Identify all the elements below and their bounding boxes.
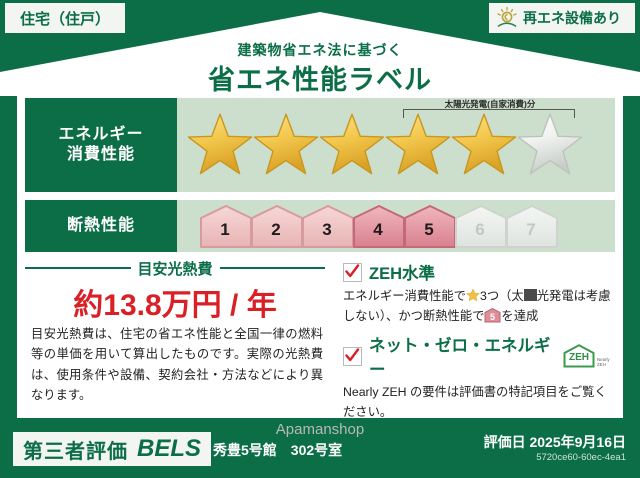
bels-certification-badge: 第三者評価 BELS <box>13 432 211 466</box>
net-zero-body: Nearly ZEH の要件は評価書の特記項目をご覧ください。 <box>343 383 615 422</box>
heading-rule-right <box>220 267 326 269</box>
checkbox-checked-icon <box>343 347 362 366</box>
evaluation-id: 5720ce60-60ec-4ea1 <box>536 452 626 463</box>
energy-label-line1: エネルギー <box>58 125 143 145</box>
zeh-standard-item: ZEH水準 エネルギー消費性能で3つ（太光発電は考慮しない）、かつ断熱性能で5を… <box>343 260 611 326</box>
insulation-level-badge-icon: 5 <box>484 308 501 322</box>
house-type-badge: 住宅（住戸） <box>5 3 125 33</box>
net-zero-title-row: ネット・ゼロ・エネルギー ZEH Nearly ZEH <box>343 332 615 380</box>
insulation-level-2: 2 <box>250 204 302 248</box>
main-panel: エネルギー 消費性能 太陽光発電(自家消費)分 断熱性能 1234567 目安光… <box>17 90 623 418</box>
insulation-level-number: 4 <box>352 220 404 240</box>
star-icon-filled <box>449 110 519 180</box>
insulation-level-number: 1 <box>199 220 251 240</box>
renewable-equipment-badge: 再エネ設備あり <box>489 3 635 33</box>
bels-energy-label: 建築物省エネ法に基づく 省エネ性能ラベル 住宅（住戸） 再エネ設備あり エネルギ… <box>0 0 640 478</box>
solar-bracket <box>403 109 575 118</box>
star-icon-filled <box>317 110 387 180</box>
page-title: 省エネ性能ラベル <box>0 58 640 97</box>
footer-bar: 第三者評価 BELS 秀豊5号館 302号室 評価日 2025年9月16日 57… <box>0 420 640 478</box>
insulation-level-7: 7 <box>505 204 557 248</box>
insulation-level-scale: 1234567 <box>199 202 556 250</box>
zeh-standard-title-row: ZEH水準 <box>343 260 611 284</box>
bels-japanese-label: 第三者評価 <box>23 435 128 464</box>
utility-cost-value: 約13.8万円 / 年 <box>25 280 325 324</box>
svg-text:ZEH: ZEH <box>597 362 606 367</box>
star-icon-filled <box>383 110 453 180</box>
net-zero-title: ネット・ゼロ・エネルギー <box>369 332 555 380</box>
star-icon <box>466 288 480 302</box>
svg-text:ZEH: ZEH <box>569 352 589 363</box>
energy-label-line2: 消費性能 <box>67 145 135 165</box>
energy-performance-label: エネルギー 消費性能 <box>25 98 177 192</box>
insulation-level-5: 5 <box>403 204 455 248</box>
insulation-performance-label: 断熱性能 <box>25 200 177 252</box>
insulation-level-number: 7 <box>505 220 557 240</box>
star-icon-filled <box>251 110 321 180</box>
insulation-level-1: 1 <box>199 204 251 248</box>
net-zero-energy-item: ネット・ゼロ・エネルギー ZEH Nearly ZEH <box>343 332 615 422</box>
utility-cost-section: 目安光熱費 約13.8万円 / 年 目安光熱費は、住宅の省エネ性能と全国一律の燃… <box>25 260 325 410</box>
insulation-level-number: 6 <box>454 220 506 240</box>
utility-cost-note: 目安光熱費は、住宅の省エネ性能と全国一律の燃料等の単価を用いて算出したものです。… <box>31 324 323 405</box>
zeh-body-text-b: 3つ（太 <box>480 289 524 303</box>
insulation-level-3: 3 <box>301 204 353 248</box>
insulation-label-text: 断熱性能 <box>67 216 135 236</box>
zeh-section: ZEH水準 エネルギー消費性能で3つ（太光発電は考慮しない）、かつ断熱性能で5を… <box>325 260 615 410</box>
zeh-body-text-d: を達成 <box>501 309 538 323</box>
zeh-body-text-a: エネルギー消費性能で <box>343 289 466 303</box>
sun-icon <box>495 6 519 30</box>
zeh-logo-icon: ZEH Nearly ZEH <box>562 343 615 369</box>
property-room-name: 秀豊5号館 302号室 <box>213 440 342 460</box>
star-icon-filled <box>185 110 255 180</box>
zeh-standard-body: エネルギー消費性能で3つ（太光発電は考慮しない）、かつ断熱性能で5を達成 <box>343 287 611 326</box>
utility-cost-heading: 目安光熱費 <box>25 260 325 276</box>
bels-logo-text: BELS <box>137 435 201 463</box>
insulation-level-number: 3 <box>301 220 353 240</box>
checkbox-checked-icon <box>343 263 362 282</box>
insulation-level-4: 4 <box>352 204 404 248</box>
redacted-character <box>524 289 537 301</box>
insulation-level-number: 2 <box>250 220 302 240</box>
utility-cost-heading-text: 目安光熱費 <box>138 258 213 279</box>
heading-rule-left <box>25 267 131 269</box>
star-icon-empty <box>515 110 585 180</box>
svg-text:5: 5 <box>490 312 495 322</box>
evaluation-date: 評価日 2025年9月16日 <box>484 432 626 452</box>
zeh-standard-title: ZEH水準 <box>369 260 435 284</box>
lower-content: 目安光熱費 約13.8万円 / 年 目安光熱費は、住宅の省エネ性能と全国一律の燃… <box>25 260 615 410</box>
renewable-equipment-label: 再エネ設備あり <box>523 8 621 28</box>
title-subtitle: 建築物省エネ法に基づく <box>0 40 640 60</box>
insulation-level-6: 6 <box>454 204 506 248</box>
insulation-level-number: 5 <box>403 220 455 240</box>
